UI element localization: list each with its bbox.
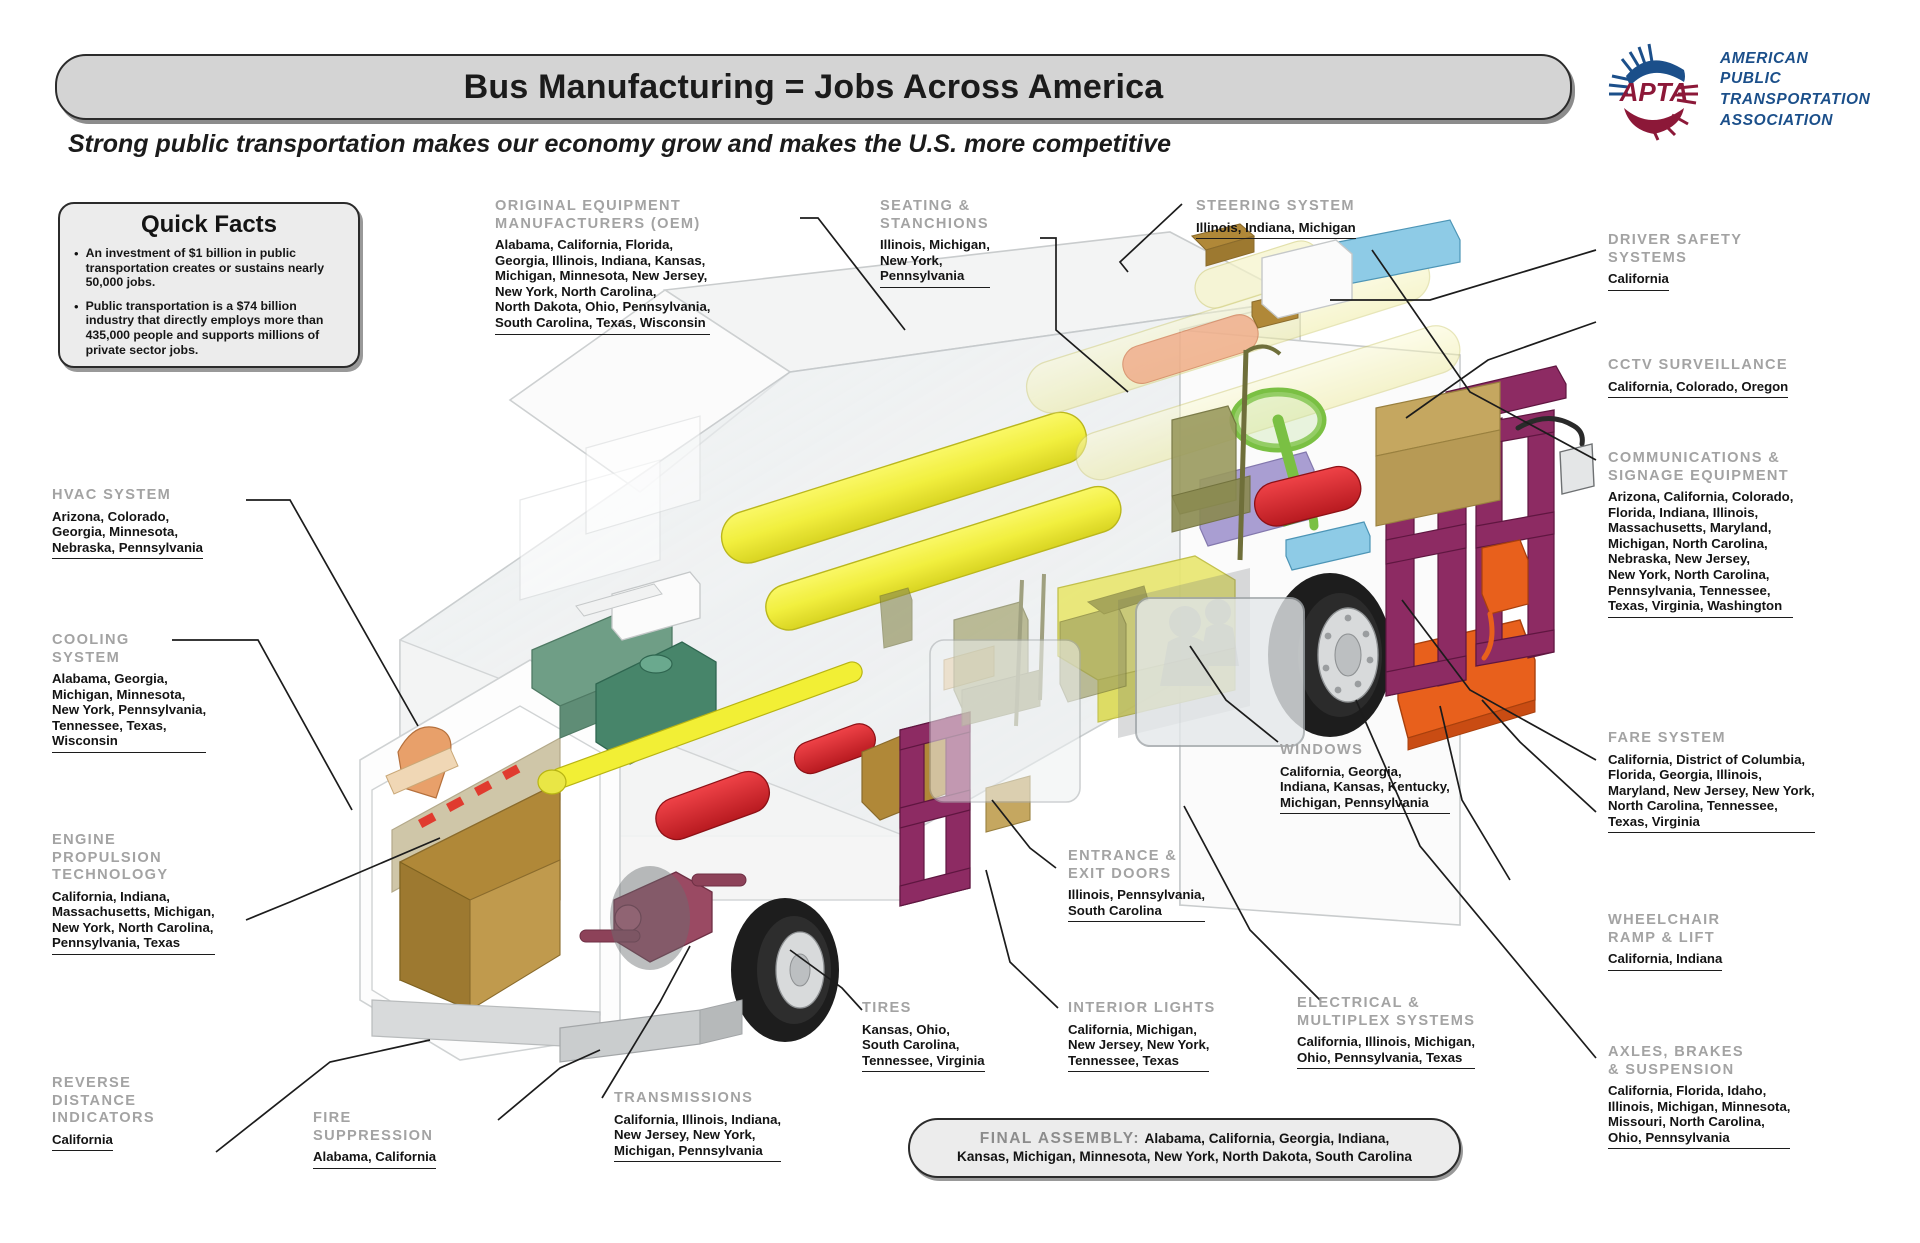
callout-title: WINDOWS: [1280, 742, 1450, 760]
bus-body-shell: [360, 232, 1460, 1060]
callout-title: DRIVER SAFETY SYSTEMS: [1608, 232, 1742, 267]
callout-title: AXLES, BRAKES & SUSPENSION: [1608, 1044, 1790, 1079]
callout-hvac-system: HVAC SYSTEM Arizona, Colorado, Georgia, …: [52, 487, 203, 559]
callout-title: HVAC SYSTEM: [52, 487, 203, 505]
apta-logo-mark: APTA: [1600, 36, 1708, 144]
final-assembly-label: FINAL ASSEMBLY:: [980, 1130, 1140, 1147]
callout-title: COMMUNICATIONS & SIGNAGE EQUIPMENT: [1608, 450, 1793, 485]
logo-line-transportation: TRANSPORTATION: [1720, 90, 1870, 111]
callout-states: California, Colorado, Oregon: [1608, 379, 1788, 399]
callout-states: California, Indiana, Massachusetts, Mich…: [52, 889, 215, 955]
fire-suppression-unit: [560, 1000, 742, 1062]
callout-title: ELECTRICAL & MULTIPLEX SYSTEMS: [1297, 995, 1475, 1030]
logo-line-american: AMERICAN: [1720, 49, 1870, 70]
callout-states: Kansas, Ohio, South Carolina, Tennessee,…: [862, 1022, 985, 1073]
driveline-assembly: [538, 659, 950, 845]
callout-title: FIRE SUPPRESSION: [313, 1110, 436, 1145]
apta-logo-wordmark: APTA: [1619, 77, 1689, 107]
quick-fact-text: An investment of $1 billion in public tr…: [86, 246, 344, 290]
callout-entrance-exit-doors: ENTRANCE & EXIT DOORS Illinois, Pennsylv…: [1068, 848, 1205, 922]
apta-logo: APTA AMERICAN PUBLIC TRANSPORTATION ASSO…: [1600, 36, 1870, 144]
callout-title: ENGINE PROPULSION TECHNOLOGY: [52, 832, 215, 885]
quick-facts-box: Quick Facts • An investment of $1 billio…: [58, 202, 360, 368]
callout-electrical-multiplex-systems: ELECTRICAL & MULTIPLEX SYSTEMS Californi…: [1297, 995, 1475, 1069]
callout-states: Alabama, Georgia, Michigan, Minnesota, N…: [52, 671, 206, 753]
callout-tires: TIRES Kansas, Ohio, South Carolina, Tenn…: [862, 1000, 985, 1072]
page-title: Bus Manufacturing = Jobs Across America: [464, 68, 1164, 107]
callout-states: California, Illinois, Indiana, New Jerse…: [614, 1112, 781, 1163]
callout-axles-brakes-suspension: AXLES, BRAKES & SUSPENSION California, F…: [1608, 1044, 1790, 1149]
callout-title: TRANSMISSIONS: [614, 1090, 781, 1108]
callout-oem: ORIGINAL EQUIPMENT MANUFACTURERS (OEM) A…: [495, 198, 710, 335]
quick-fact-text: Public transportation is a $74 billion i…: [86, 299, 344, 357]
logo-line-association: ASSOCIATION: [1720, 111, 1870, 132]
callout-windows: WINDOWS California, Georgia, Indiana, Ka…: [1280, 742, 1450, 814]
callout-states: California: [52, 1132, 113, 1152]
callout-fire-suppression: FIRE SUPPRESSION Alabama, California: [313, 1110, 436, 1169]
callout-title: CCTV SURVEILLANCE: [1608, 357, 1788, 375]
callout-transmissions: TRANSMISSIONS California, Illinois, Indi…: [614, 1090, 781, 1162]
callout-fare-system: FARE SYSTEM California, District of Colu…: [1608, 730, 1815, 833]
callout-states: Illinois, Pennsylvania, South Carolina: [1068, 887, 1205, 922]
callout-states: California, Georgia, Indiana, Kansas, Ke…: [1280, 764, 1450, 815]
logo-line-public: PUBLIC: [1720, 69, 1870, 90]
rear-doors: [900, 646, 1030, 906]
engine-compartment: [372, 604, 716, 1048]
driver-area: [1118, 346, 1365, 738]
quick-facts-title: Quick Facts: [74, 211, 344, 239]
header-banner: Bus Manufacturing = Jobs Across America: [55, 54, 1572, 120]
callout-title: ORIGINAL EQUIPMENT MANUFACTURERS (OEM): [495, 198, 710, 233]
callout-states: Illinois, Indiana, Michigan: [1196, 220, 1356, 240]
callout-states: Illinois, Michigan, New York, Pennsylvan…: [880, 237, 990, 288]
quick-fact-item: • An investment of $1 billion in public …: [74, 246, 344, 290]
signage-equipment: [1252, 220, 1460, 570]
transmission-axle: [580, 872, 746, 962]
callout-states: California, District of Columbia, Florid…: [1608, 752, 1815, 834]
callout-title: ENTRANCE & EXIT DOORS: [1068, 848, 1205, 883]
callout-title: INTERIOR LIGHTS: [1068, 1000, 1216, 1018]
windows: [520, 416, 1304, 802]
final-assembly-box: FINAL ASSEMBLY: Alabama, California, Geo…: [908, 1118, 1461, 1178]
bullet-icon: •: [74, 246, 79, 290]
entrance-exit-doors-and-ramp: [1376, 366, 1594, 750]
seating-stanchions: [880, 574, 1148, 726]
callout-states: Alabama, California, Florida, Georgia, I…: [495, 237, 710, 335]
callout-steering-system: STEERING SYSTEM Illinois, Indiana, Michi…: [1196, 198, 1356, 239]
callout-engine-propulsion-technology: ENGINE PROPULSION TECHNOLOGY California,…: [52, 832, 215, 955]
callout-states: California, Indiana: [1608, 951, 1722, 971]
callout-title: REVERSE DISTANCE INDICATORS: [52, 1075, 155, 1128]
callout-states: California: [1608, 271, 1669, 291]
roof-tanks: [715, 236, 1466, 722]
callout-cooling-system: COOLING SYSTEM Alabama, Georgia, Michiga…: [52, 632, 206, 753]
callout-states: Arizona, California, Colorado, Florida, …: [1608, 489, 1793, 618]
callout-title: FARE SYSTEM: [1608, 730, 1815, 748]
callout-title: COOLING SYSTEM: [52, 632, 206, 667]
callout-states: California, Michigan, New Jersey, New Yo…: [1068, 1022, 1209, 1073]
callout-cctv-surveillance: CCTV SURVEILLANCE California, Colorado, …: [1608, 357, 1788, 398]
page-subtitle: Strong public transportation makes our e…: [68, 130, 1578, 159]
callout-title: SEATING & STANCHIONS: [880, 198, 990, 233]
callout-title: WHEELCHAIR RAMP & LIFT: [1608, 912, 1722, 947]
callout-states: Arizona, Colorado, Georgia, Minnesota, N…: [52, 509, 203, 560]
callout-reverse-distance-indicators: REVERSE DISTANCE INDICATORS California: [52, 1075, 155, 1151]
callout-interior-lights: INTERIOR LIGHTS California, Michigan, Ne…: [1068, 1000, 1216, 1072]
callout-communications-signage: COMMUNICATIONS & SIGNAGE EQUIPMENT Arizo…: [1608, 450, 1793, 618]
callout-states: Alabama, California: [313, 1149, 436, 1169]
callout-driver-safety-systems: DRIVER SAFETY SYSTEMS California: [1608, 232, 1742, 291]
quick-fact-item: • Public transportation is a $74 billion…: [74, 299, 344, 357]
callout-states: California, Illinois, Michigan, Ohio, Pe…: [1297, 1034, 1475, 1069]
callout-title: TIRES: [862, 1000, 985, 1018]
callout-states: California, Florida, Idaho, Illinois, Mi…: [1608, 1083, 1790, 1149]
wheels: [610, 573, 1392, 1042]
bullet-icon: •: [74, 299, 79, 357]
callout-seating-stanchions: SEATING & STANCHIONS Illinois, Michigan,…: [880, 198, 990, 288]
callout-title: STEERING SYSTEM: [1196, 198, 1356, 216]
callout-wheelchair-ramp-lift: WHEELCHAIR RAMP & LIFT California, India…: [1608, 912, 1722, 971]
